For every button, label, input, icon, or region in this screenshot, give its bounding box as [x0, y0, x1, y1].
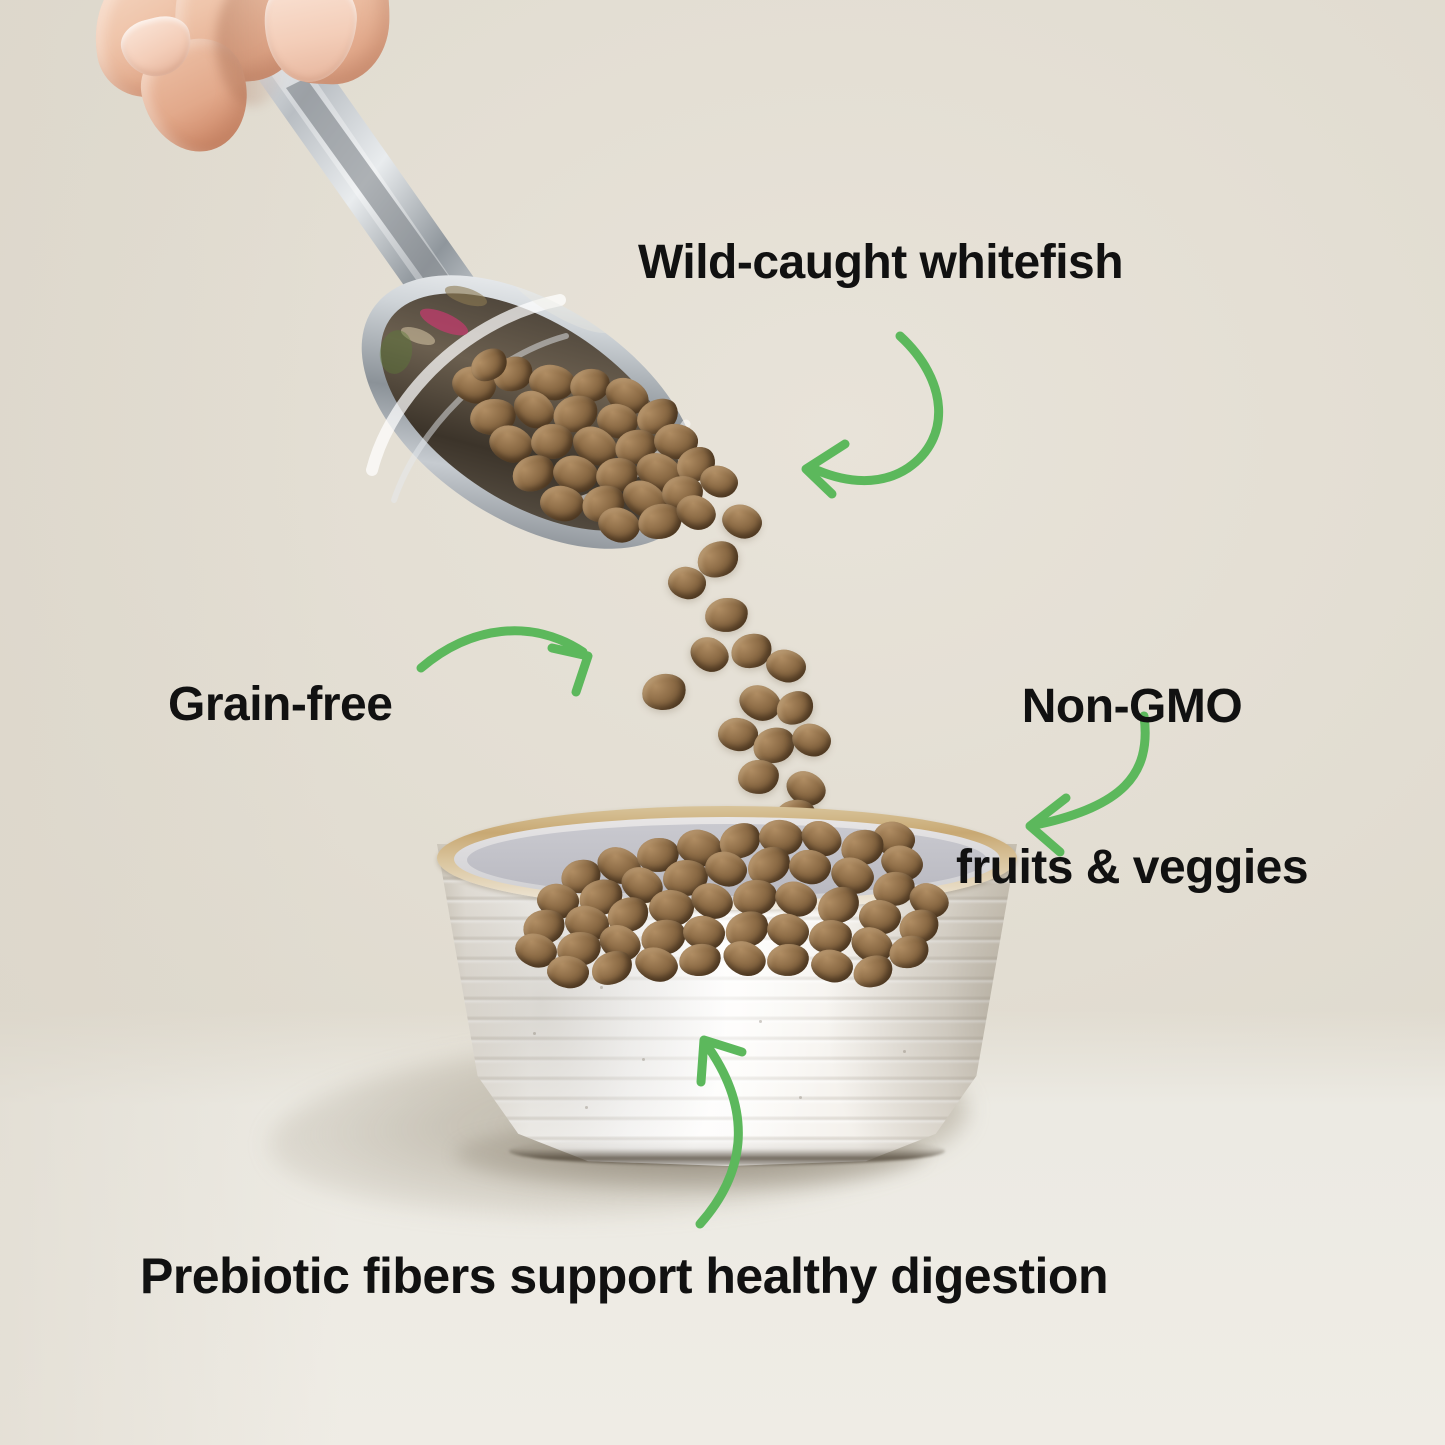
- bowl-base-contact-line: [509, 1136, 945, 1166]
- callout-label-grain-free: Grain-free: [168, 678, 392, 732]
- hand: [88, 0, 418, 152]
- callout-label-non-gmo: Non-GMO fruits & veggies: [918, 572, 1346, 1002]
- callout-label-non-gmo-line2: fruits & veggies: [918, 841, 1346, 895]
- callout-label-non-gmo-line1: Non-GMO: [918, 680, 1346, 734]
- product-feature-image: Wild-caught whitefish Grain-free Non-GMO…: [0, 0, 1445, 1445]
- callout-label-prebiotic-fibers: Prebiotic fibers support healthy digesti…: [140, 1248, 1108, 1304]
- callout-label-wild-caught-whitefish: Wild-caught whitefish: [638, 236, 1123, 290]
